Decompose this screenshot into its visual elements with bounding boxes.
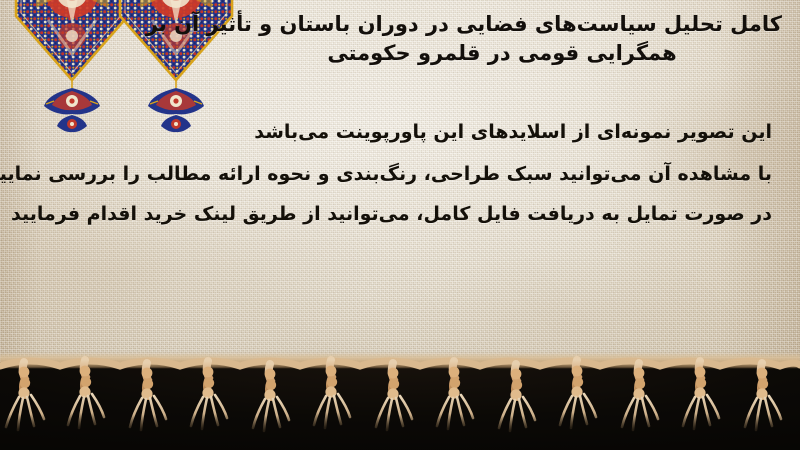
body-line-design-review: با مشاهده آن می‌توانید سبک طراحی، رنگ‌بن… <box>20 154 772 194</box>
slide-title-line-1: کامل تحلیل سیاست‌های فضایی در دوران باست… <box>222 10 782 39</box>
body-line-purchase-link: در صورت تمایل به دریافت فایل کامل، می‌تو… <box>20 194 772 234</box>
slide-title-line-2: همگرایی قومی در قلمرو حکومتی <box>222 39 782 68</box>
fringe-tassels-icon <box>0 350 800 450</box>
presentation-slide: کامل تحلیل سیاست‌های فضایی در دوران باست… <box>0 0 800 450</box>
body-line-sample-notice: این تصویر نمونه‌ای از اسلایدهای این پاور… <box>20 112 772 152</box>
slide-body: این تصویر نمونه‌ای از اسلایدهای این پاور… <box>20 112 772 234</box>
carpet-fringe-band <box>0 350 800 450</box>
slide-title: کامل تحلیل سیاست‌های فضایی در دوران باست… <box>222 10 782 68</box>
